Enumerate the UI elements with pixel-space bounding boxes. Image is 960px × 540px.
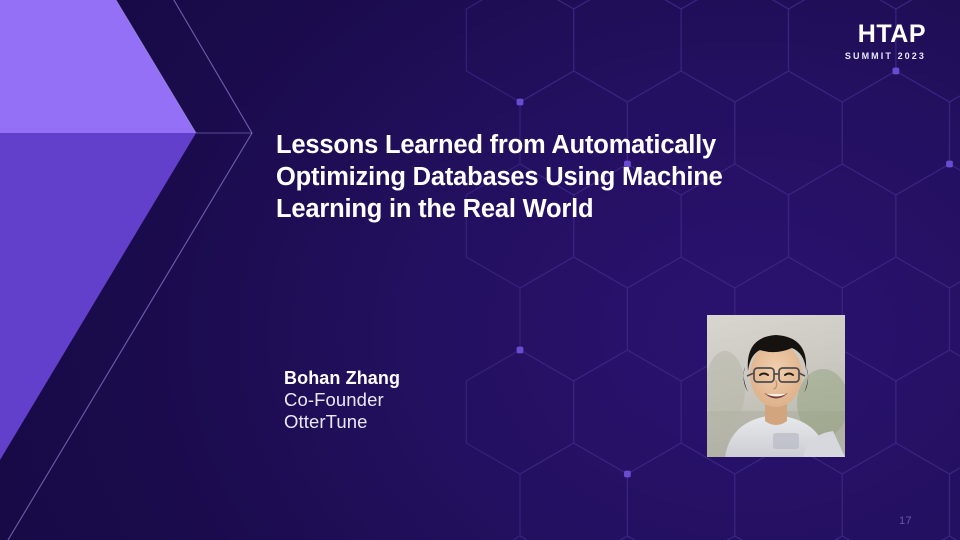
speaker-headshot-photo (707, 315, 845, 457)
speaker-role: Co-Founder (284, 389, 400, 411)
logo-wordmark: HTAP (845, 22, 926, 47)
logo-subtitle: SUMMIT 2023 (845, 52, 926, 61)
speaker-info: Bohan Zhang Co-Founder OtterTune (284, 368, 400, 433)
slide-title: Lessons Learned from Automatically Optim… (276, 129, 806, 225)
event-logo: HTAP SUMMIT 2023 (845, 22, 926, 61)
page-number: 17 (899, 515, 912, 527)
speaker-organization: OtterTune (284, 411, 400, 433)
speaker-name: Bohan Zhang (284, 368, 400, 389)
presentation-slide: HTAP SUMMIT 2023 Lessons Learned from Au… (0, 0, 960, 540)
hexagon-pattern-decoration (0, 0, 960, 540)
chevron-graphic-decoration (0, 0, 300, 540)
